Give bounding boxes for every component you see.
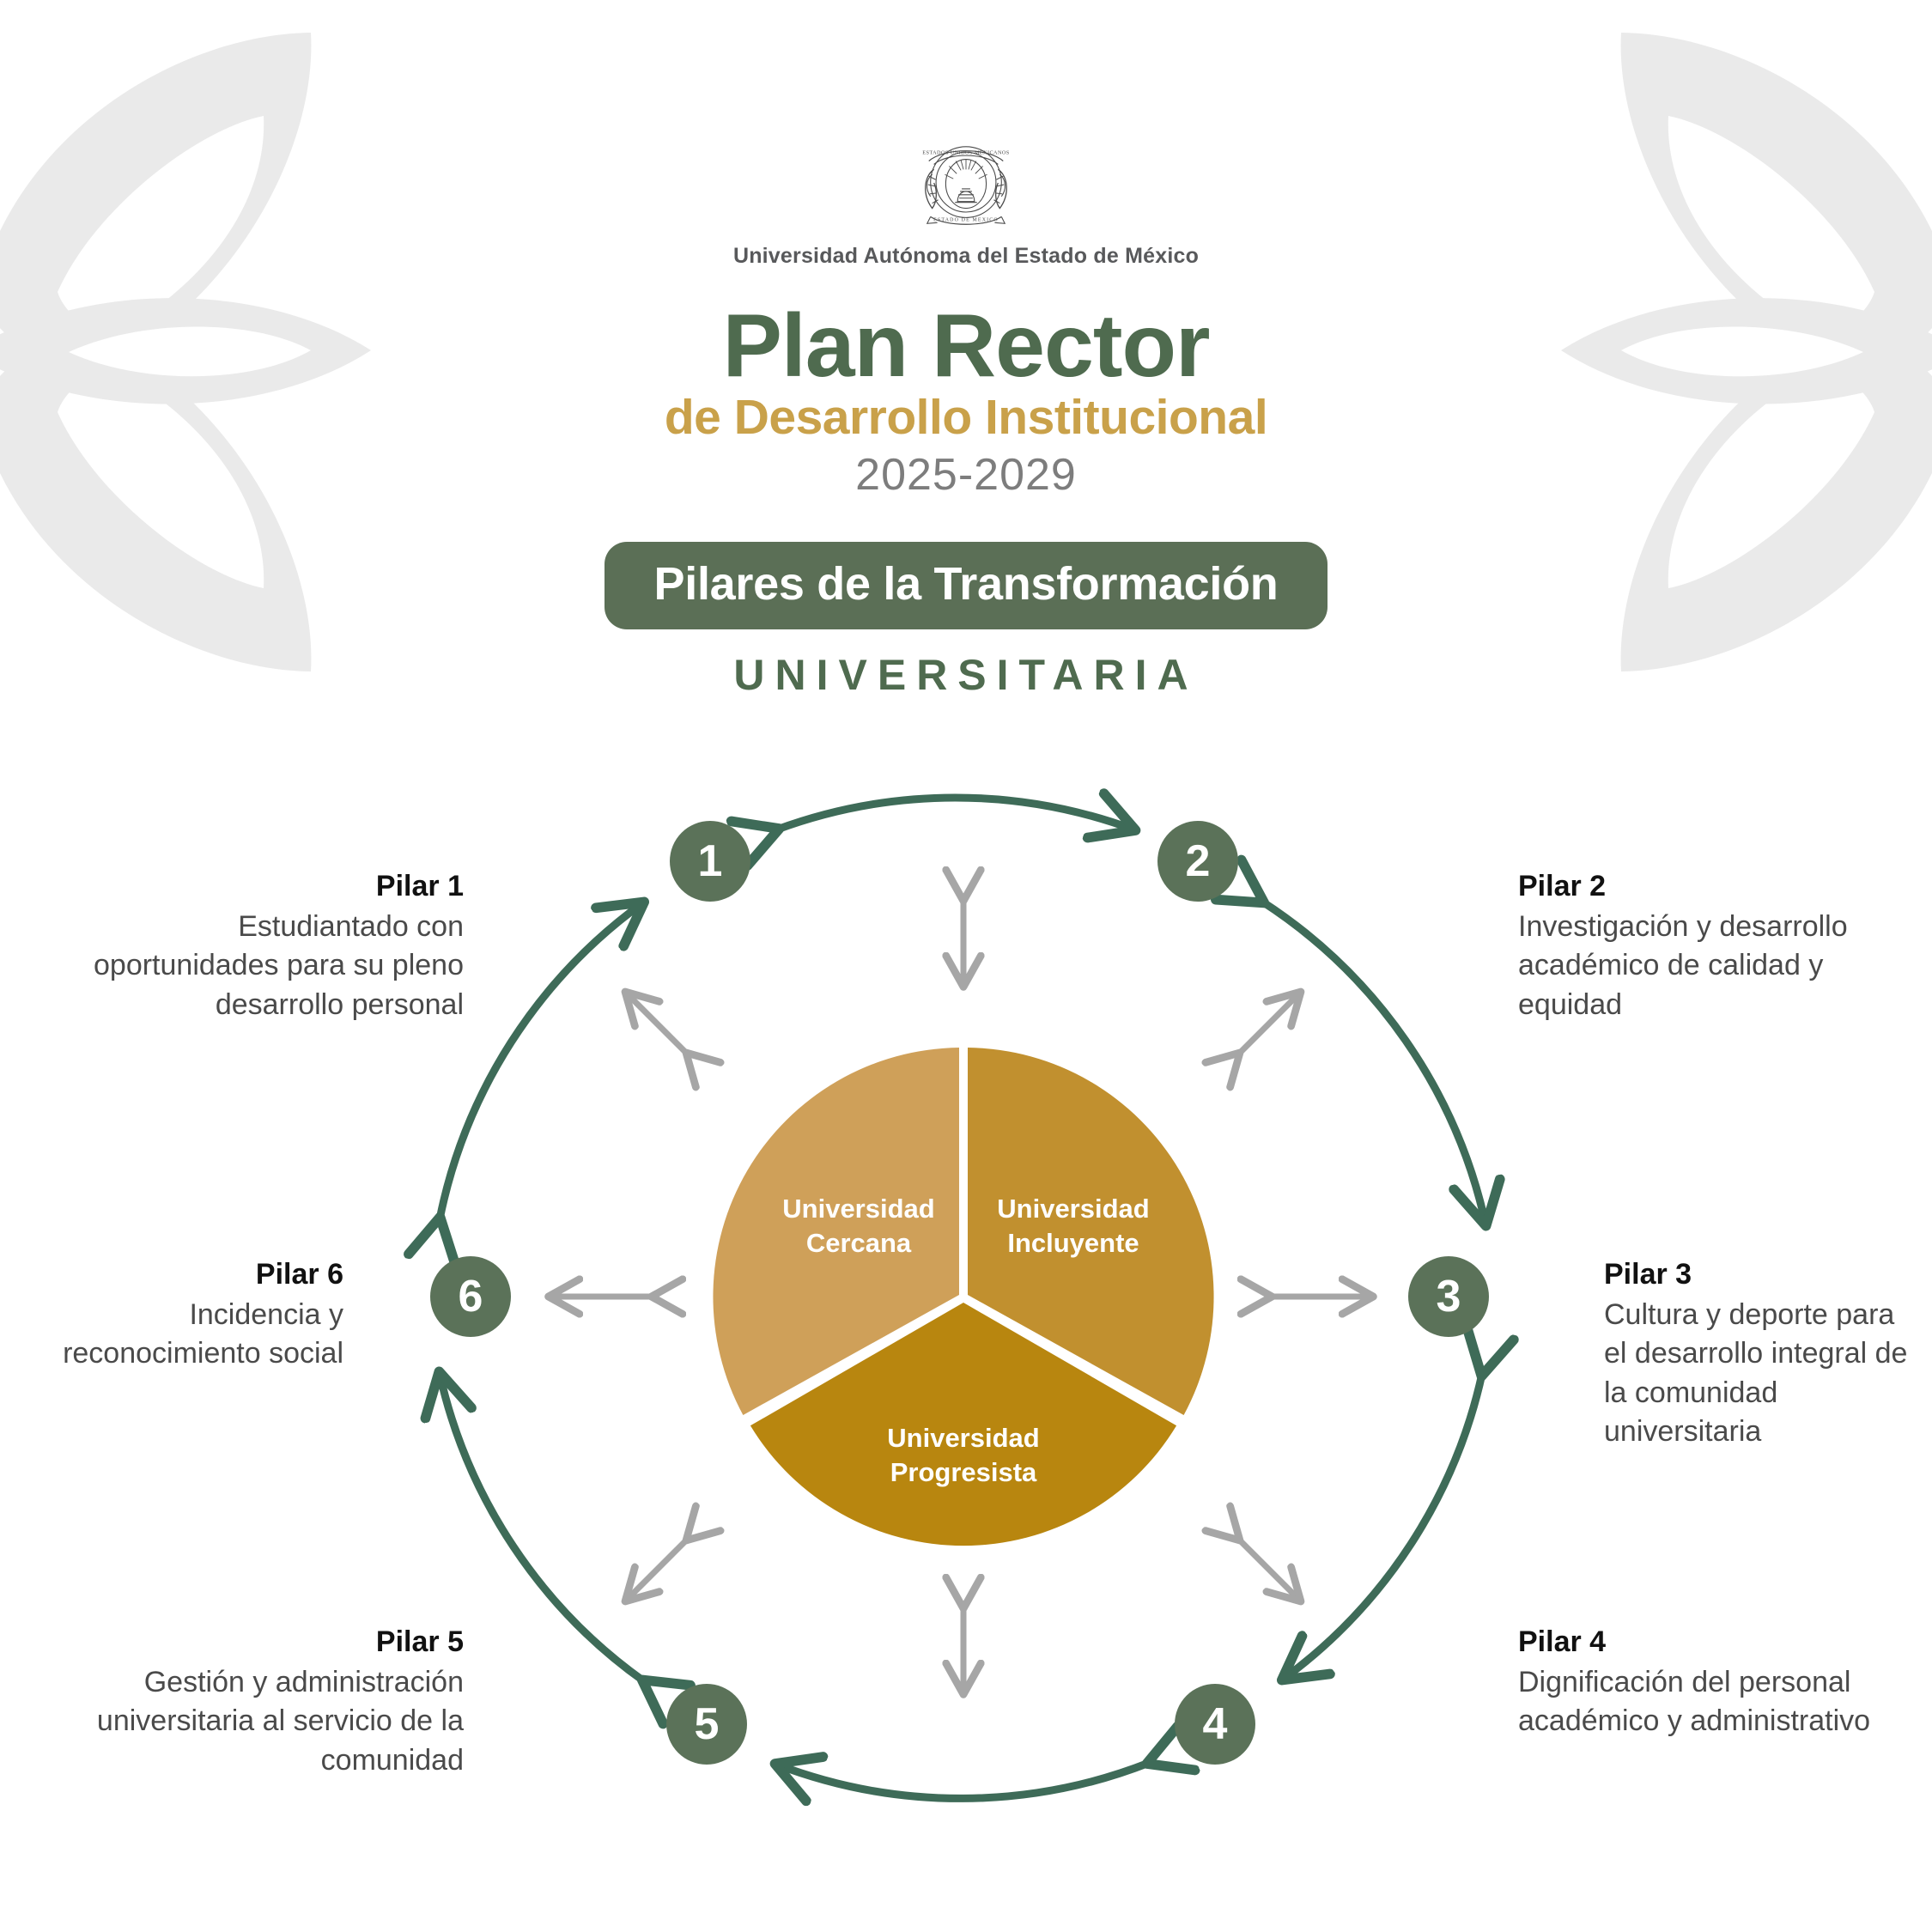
pilar-1-title: Pilar 1 [86, 867, 464, 906]
pilar-2-title: Pilar 2 [1518, 867, 1905, 906]
pilar-2-block: Pilar 2 Investigación y desarrollo acadé… [1518, 867, 1905, 1024]
node-pilar-6[interactable]: 6 [430, 1256, 511, 1337]
pilar-4-block: Pilar 4 Dignificación del personal acadé… [1518, 1623, 1905, 1741]
pilar-5-block: Pilar 5 Gestión y administración univers… [34, 1623, 464, 1780]
radial-link-arrows [550, 900, 1372, 1693]
node-pilar-3[interactable]: 3 [1408, 1256, 1489, 1337]
pilar-4-body: Dignificación del personal académico y a… [1518, 1663, 1905, 1741]
pillars-diagram: Universidad Cercana Universidad Incluyen… [0, 0, 1932, 1932]
arc-3-4 [1284, 1374, 1482, 1679]
pie-label-incluyente-line2: Incluyente [1007, 1228, 1139, 1258]
pie-label-cercana-line1: Universidad [782, 1194, 934, 1224]
pilar-2-body: Investigación y desarrollo académico de … [1518, 908, 1905, 1024]
node-pilar-1[interactable]: 1 [670, 821, 750, 902]
arc-2-3 [1262, 902, 1485, 1224]
arc-4-5 [777, 1763, 1149, 1798]
pilar-5-title: Pilar 5 [34, 1623, 464, 1662]
radial-arrow-lower-left [626, 1540, 687, 1601]
pilar-5-body: Gestión y administración universitaria a… [34, 1663, 464, 1780]
pie-label-incluyente-line1: Universidad [997, 1194, 1149, 1224]
radial-arrow-upper-left [626, 993, 687, 1054]
pie-label-progresista-line2: Progresista [890, 1457, 1037, 1487]
node-pilar-5[interactable]: 5 [666, 1684, 747, 1765]
radial-arrow-lower-right [1239, 1540, 1300, 1601]
node-pilar-4[interactable]: 4 [1175, 1684, 1255, 1765]
arc-1-2 [777, 798, 1133, 829]
pilar-3-body: Cultura y deporte para el desarrollo int… [1604, 1296, 1913, 1451]
arc-5-6 [440, 1374, 644, 1681]
pie-label-progresista-line1: Universidad [887, 1423, 1039, 1453]
pilar-6-body: Incidencia y reconocimiento social [52, 1296, 343, 1373]
pilar-4-title: Pilar 4 [1518, 1623, 1905, 1662]
arc-6-1 [440, 903, 642, 1219]
pilar-1-block: Pilar 1 Estudiantado con oportunidades p… [86, 867, 464, 1024]
pie-label-cercana: Universidad Cercana [756, 1192, 962, 1261]
node-pilar-2[interactable]: 2 [1157, 821, 1238, 902]
poster-canvas: ESTADOS UNIDOS MEXICANOS ESTADO DE MEXIC… [0, 0, 1932, 1932]
pilar-6-block: Pilar 6 Incidencia y reconocimiento soci… [52, 1255, 343, 1374]
pie-label-cercana-line2: Cercana [806, 1228, 911, 1258]
pilar-1-body: Estudiantado con oportunidades para su p… [86, 908, 464, 1024]
pie-label-progresista: Universidad Progresista [860, 1421, 1066, 1491]
pilar-3-block: Pilar 3 Cultura y deporte para el desarr… [1604, 1255, 1913, 1451]
pie-label-incluyente: Universidad Incluyente [970, 1192, 1176, 1261]
pilar-6-title: Pilar 6 [52, 1255, 343, 1294]
radial-arrow-upper-right [1239, 993, 1300, 1054]
pilar-3-title: Pilar 3 [1604, 1255, 1913, 1294]
